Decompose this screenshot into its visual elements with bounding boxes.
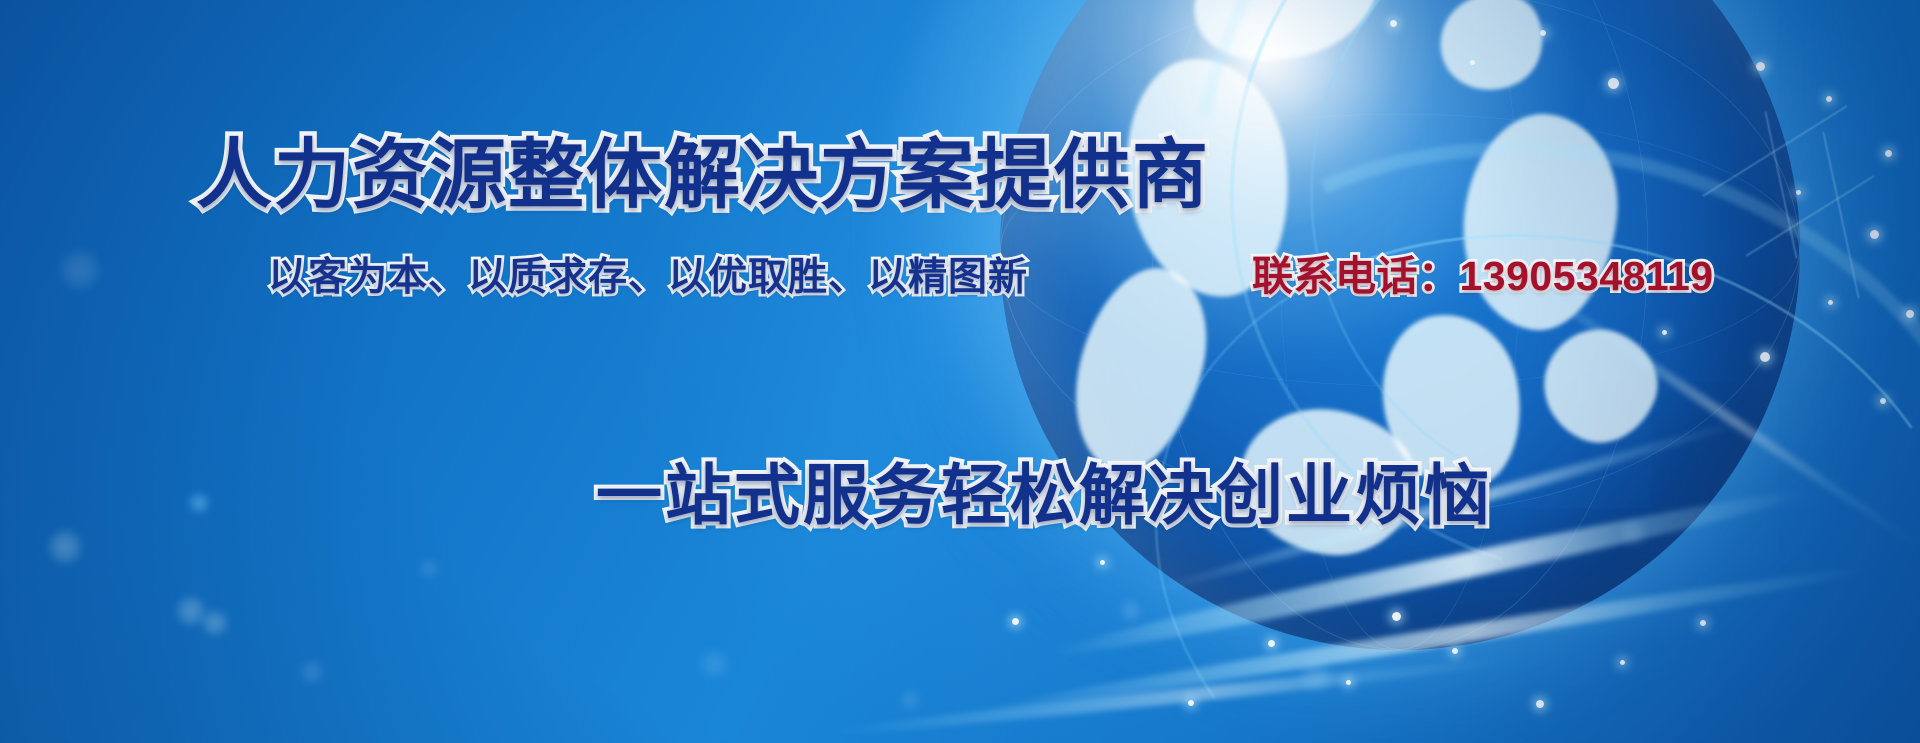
promotional-banner: 人力资源整体解决方案提供商 以客为本、以质求存、以优取胜、以精图新 联系电话：1…	[0, 0, 1920, 743]
service-tagline: 一站式服务轻松解决创业烦恼	[596, 462, 1493, 528]
page-title: 人力资源整体解决方案提供商	[196, 138, 1210, 214]
company-slogan: 以客为本、以质求存、以优取胜、以精图新	[268, 258, 1028, 297]
contact-phone[interactable]: 联系电话：13905348119	[1252, 256, 1714, 297]
background-vignette	[0, 0, 1920, 743]
